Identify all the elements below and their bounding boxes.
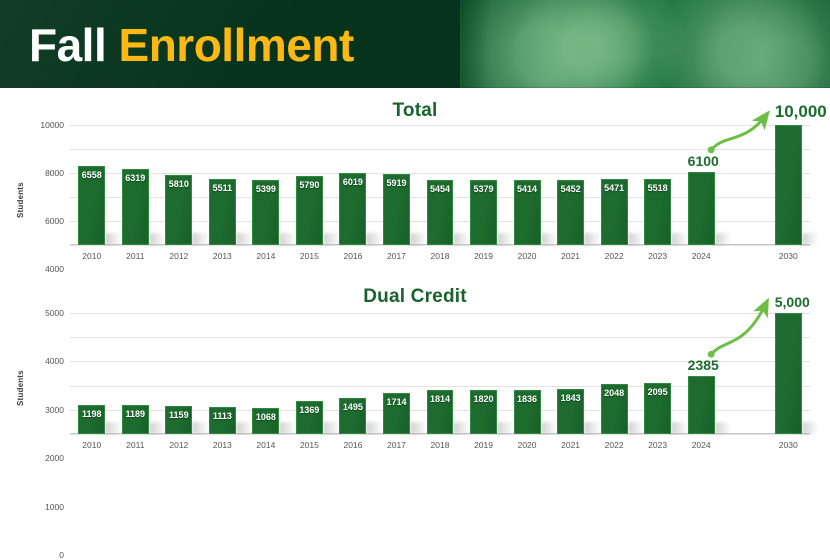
x-axis-tick-label: 2019	[459, 440, 508, 450]
x-axis-tick-label: 2015	[285, 251, 334, 261]
title-word-enrollment: Enrollment	[119, 19, 354, 71]
bar-slot[interactable]: 14952016	[339, 313, 366, 434]
bar-slot[interactable]: 63192011	[122, 125, 149, 245]
bar-shadow	[323, 233, 340, 245]
bar-value-label: 1820	[470, 394, 497, 404]
x-axis-tick-label: 2012	[155, 440, 204, 450]
chart-total-y-axis-label: Students	[16, 182, 25, 218]
bar-value-label: 5414	[514, 184, 541, 194]
chart-dual-credit-title: Dual Credit	[0, 286, 830, 308]
bar-value-label: 1714	[383, 397, 410, 407]
x-axis-tick-label: 2018	[416, 251, 465, 261]
bar-slot[interactable]: 11982010	[78, 313, 105, 434]
bar-value-label: 5511	[209, 183, 236, 193]
x-axis-tick-label: 2018	[416, 440, 465, 450]
x-axis-tick-label: 2020	[503, 251, 552, 261]
bar-value-label: 2385	[688, 357, 715, 373]
bar-slot[interactable]: 54542018	[427, 125, 454, 245]
x-axis-tick-label: 2024	[677, 440, 726, 450]
bar-value-label: 1189	[122, 409, 149, 419]
bar-slot[interactable]: 5,0002030	[775, 313, 802, 434]
chart-total-title: Total	[0, 100, 830, 122]
chart-dual-credit-y-axis-label: Students	[16, 370, 25, 406]
bar-value-label: 1113	[209, 411, 236, 421]
bar-value-label: 6319	[122, 173, 149, 183]
bar-shadow	[149, 422, 166, 434]
bar-value-label: 5454	[427, 184, 454, 194]
x-axis-tick-label: 2010	[67, 440, 116, 450]
bar-shadow	[192, 422, 209, 434]
bar-slot[interactable]: 10,0002030	[775, 125, 802, 245]
page-header: Fall Enrollment	[0, 0, 830, 88]
bar-value-label: 5518	[644, 183, 671, 193]
bar-value-label: 5452	[557, 184, 584, 194]
bar-shadow	[497, 233, 514, 245]
chart-dual-credit-bars: 1198201011892011115920121113201310682014…	[70, 313, 810, 434]
x-axis-tick-label: 2011	[111, 440, 160, 450]
x-axis-tick-label: 2019	[459, 251, 508, 261]
bar-slot[interactable]	[731, 313, 758, 434]
chart-total-plot-area: 0200040006000800010000 65582010631920115…	[70, 125, 810, 245]
x-axis-tick-label: 2014	[242, 251, 291, 261]
bar-slot[interactable]: 53992014	[252, 125, 279, 245]
bar-slot[interactable]: 58102012	[165, 125, 192, 245]
x-axis-tick-label: 2013	[198, 440, 247, 450]
bar-shadow	[410, 422, 427, 434]
x-axis-tick-label: 2010	[67, 251, 116, 261]
bar-slot[interactable]: 54522021	[557, 125, 584, 245]
bar-slot[interactable]: 23852024	[688, 313, 715, 434]
bar-slot[interactable]: 54142020	[514, 125, 541, 245]
y-axis-tick-label: 6000	[45, 216, 64, 226]
y-axis-tick-label: 4000	[45, 356, 64, 366]
page-title: Fall Enrollment	[29, 22, 354, 68]
bar-slot[interactable]: 11132013	[209, 313, 236, 434]
bar-value-label: 6558	[78, 170, 105, 180]
bar-slot[interactable]: 20482022	[601, 313, 628, 434]
bar-slot[interactable]: 18142018	[427, 313, 454, 434]
x-axis-tick-label: 2030	[764, 440, 813, 450]
gridline: 0	[70, 245, 810, 246]
bar-shadow	[584, 422, 601, 434]
bar-value-label: 1198	[78, 409, 105, 419]
bar-value-label: 5379	[470, 184, 497, 194]
bar-shadow	[323, 422, 340, 434]
bar-slot[interactable]: 61002024	[688, 125, 715, 245]
y-axis-tick-label: 3000	[45, 405, 64, 415]
bar-shadow	[671, 233, 688, 245]
x-axis-tick-label: 2015	[285, 440, 334, 450]
bar-shadow	[105, 233, 122, 245]
bar-shadow	[236, 233, 253, 245]
y-axis-tick-label: 2000	[45, 453, 64, 463]
y-axis-tick-label: 8000	[45, 168, 64, 178]
y-axis-tick-label: 4000	[45, 264, 64, 274]
bar-value-label: 1843	[557, 393, 584, 403]
y-axis-tick-label: 0	[59, 550, 64, 560]
x-axis-tick-label: 2021	[546, 440, 595, 450]
chart-dual-credit-plot-area: 010002000300040005000 119820101189201111…	[70, 313, 810, 434]
bar-value-label: 2095	[644, 387, 671, 397]
bar-shadow	[453, 422, 470, 434]
bar-shadow	[192, 233, 209, 245]
bar-slot[interactable]	[731, 125, 758, 245]
bar-slot[interactable]: 53792019	[470, 125, 497, 245]
bar-value-label: 1068	[252, 412, 279, 422]
bar-shadow	[802, 422, 819, 434]
bar-value-label: 1159	[165, 410, 192, 420]
bar-slot[interactable]: 11592012	[165, 313, 192, 434]
bar-value-label: 1814	[427, 394, 454, 404]
bar-shadow	[279, 233, 296, 245]
x-axis-tick-label: 2023	[633, 251, 682, 261]
bar-slot[interactable]: 10682014	[252, 313, 279, 434]
bar-value-label: 6019	[339, 177, 366, 187]
bar-shadow	[715, 422, 732, 434]
chart-dual-credit: Dual Credit Students 0100020003000400050…	[0, 278, 830, 467]
x-axis-tick-label: 2022	[590, 251, 639, 261]
bar-value-label: 1369	[296, 405, 323, 415]
bar-value-label: 5471	[601, 183, 628, 193]
y-axis-tick-label: 1000	[45, 502, 64, 512]
bar-shadow	[366, 422, 383, 434]
bar-slot[interactable]: 57902015	[296, 125, 323, 245]
bar-shadow	[497, 422, 514, 434]
bar-value-label: 5790	[296, 180, 323, 190]
bar-slot[interactable]: 17142017	[383, 313, 410, 434]
bar-shadow	[279, 422, 296, 434]
y-axis-tick-label: 10000	[40, 120, 64, 130]
bar-shadow	[453, 233, 470, 245]
bar-shadow	[715, 233, 732, 245]
x-axis-tick-label: 2030	[764, 251, 813, 261]
bar-slot[interactable]: 20952023	[644, 313, 671, 434]
x-axis-tick-label: 2014	[242, 440, 291, 450]
chart-total: Total Students 0200040006000800010000 65…	[0, 88, 830, 278]
bar-value-label: 10,000	[775, 102, 802, 122]
bar-slot[interactable]: 11892011	[122, 313, 149, 434]
bar[interactable]	[775, 125, 802, 245]
bar-shadow	[366, 233, 383, 245]
students-photo	[460, 0, 830, 88]
bar-value-label: 5399	[252, 184, 279, 194]
bar-slot[interactable]: 13692015	[296, 313, 323, 434]
bar[interactable]	[775, 313, 802, 434]
bar-value-label: 5810	[165, 179, 192, 189]
bar-slot[interactable]: 18202019	[470, 313, 497, 434]
bar-value-label: 6100	[688, 153, 715, 169]
x-axis-tick-label: 2023	[633, 440, 682, 450]
bar-value-label: 2048	[601, 388, 628, 398]
photo-fade-overlay	[370, 0, 490, 88]
bar-slot[interactable]: 60192016	[339, 125, 366, 245]
bar-shadow	[671, 422, 688, 434]
x-axis-tick-label: 2024	[677, 251, 726, 261]
x-axis-tick-label: 2016	[329, 251, 378, 261]
bar-shadow	[802, 233, 819, 245]
gridline: 0	[70, 434, 810, 435]
bar[interactable]	[688, 376, 715, 434]
title-word-fall: Fall	[29, 19, 106, 71]
x-axis-tick-label: 2017	[372, 251, 421, 261]
bar-slot[interactable]: 18432021	[557, 313, 584, 434]
bar-shadow	[628, 422, 645, 434]
x-axis-tick-label: 2022	[590, 440, 639, 450]
x-axis-tick-label: 2011	[111, 251, 160, 261]
x-axis-tick-label: 2013	[198, 251, 247, 261]
bar-slot[interactable]: 59192017	[383, 125, 410, 245]
bar-shadow	[541, 422, 558, 434]
bar-value-label: 1495	[339, 402, 366, 412]
bar[interactable]	[688, 172, 715, 245]
x-axis-tick-label: 2016	[329, 440, 378, 450]
bar-value-label: 5919	[383, 178, 410, 188]
bar-shadow	[628, 233, 645, 245]
bar-shadow	[105, 422, 122, 434]
x-axis-tick-label: 2021	[546, 251, 595, 261]
bar-shadow	[236, 422, 253, 434]
x-axis-tick-label: 2020	[503, 440, 552, 450]
bar-slot[interactable]: 18362020	[514, 313, 541, 434]
bar-slot[interactable]: 55182023	[644, 125, 671, 245]
bar-slot[interactable]: 55112013	[209, 125, 236, 245]
bar-shadow	[149, 233, 166, 245]
bar-value-label: 5,000	[775, 294, 802, 310]
bar-shadow	[410, 233, 427, 245]
bar-slot[interactable]: 65582010	[78, 125, 105, 245]
bar-shadow	[584, 233, 601, 245]
y-axis-tick-label: 5000	[45, 308, 64, 318]
x-axis-tick-label: 2012	[155, 251, 204, 261]
chart-total-bars: 6558201063192011581020125511201353992014…	[70, 125, 810, 245]
bar-shadow	[541, 233, 558, 245]
bar-value-label: 1836	[514, 394, 541, 404]
x-axis-tick-label: 2017	[372, 440, 421, 450]
bar-slot[interactable]: 54712022	[601, 125, 628, 245]
